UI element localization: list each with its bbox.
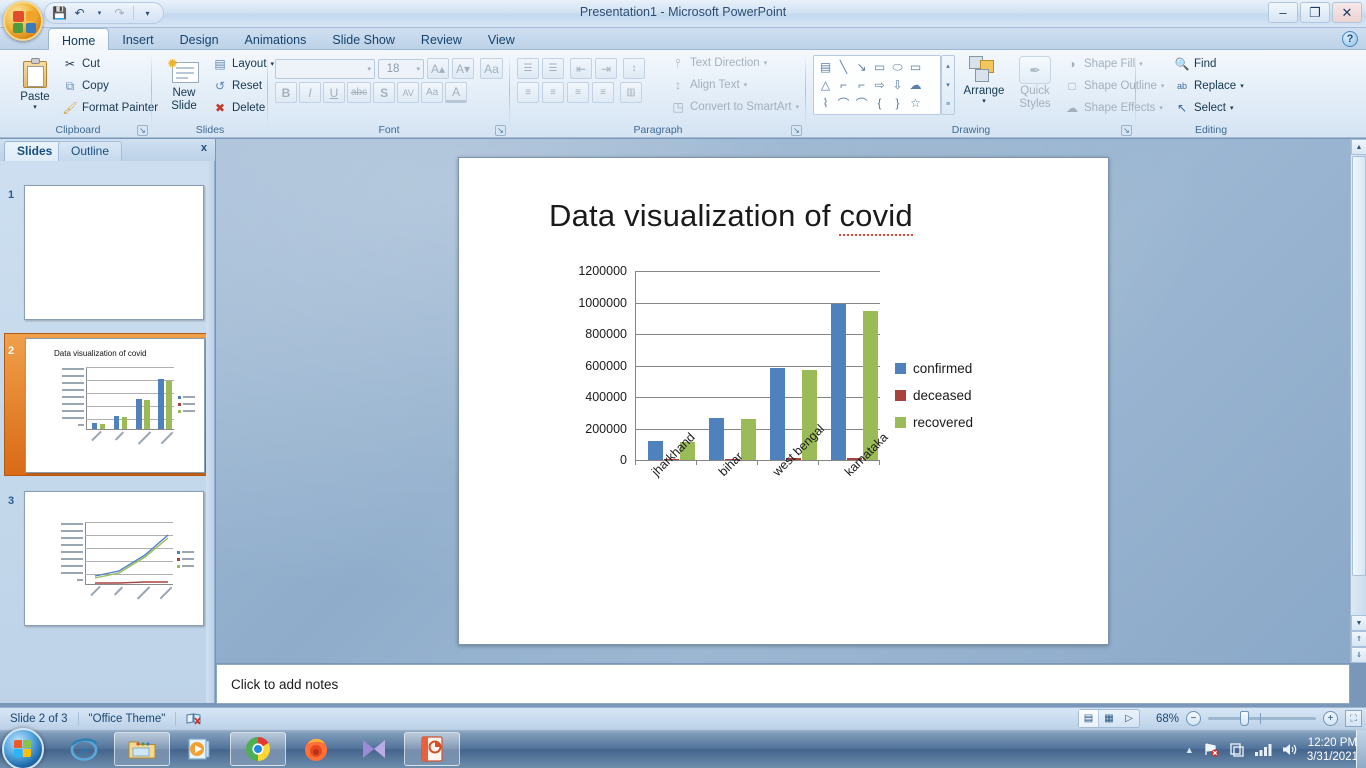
legend-item-deceased[interactable]: deceased: [895, 388, 973, 403]
minimize-button[interactable]: –: [1268, 2, 1298, 23]
svg-text:e: e: [80, 741, 88, 760]
paste-label: Paste: [12, 91, 58, 103]
ribbon-group-paragraph: ☰ ☰ ⇤ ⇥ ↕ ≡ ≡ ≡ ≡ ▥ ⫯ Text Direction ▾: [510, 50, 806, 138]
slide-indicator[interactable]: Slide 2 of 3: [0, 710, 78, 728]
curve-shape-icon[interactable]: ⌒: [835, 95, 852, 112]
shrink-font-button[interactable]: A▾: [452, 58, 474, 79]
tab-insert[interactable]: Insert: [109, 28, 166, 50]
internet-explorer-icon: e: [69, 735, 99, 763]
paragraph-row-2: ≡ ≡ ≡ ≡ ▥: [517, 82, 642, 103]
gallery-scroll-down-icon[interactable]: ▾: [946, 81, 950, 89]
legend-label-confirmed: confirmed: [913, 361, 972, 376]
font-row-1: ▾ 18 ▾ A▴ A▾ Aa: [275, 58, 503, 79]
slide-pane-tabs: Slides Outline x: [0, 139, 215, 161]
align-center-button[interactable]: ≡: [542, 82, 564, 103]
convert-to-smartart-button[interactable]: ◳ Convert to SmartArt ▾: [670, 99, 799, 115]
drawing-dialog-launcher[interactable]: ↘: [1121, 125, 1132, 136]
slide-thumbnail-2[interactable]: Data visualization of covid: [4, 337, 207, 485]
slide-preview-3: [24, 491, 204, 626]
taskbar: e: [0, 729, 1366, 768]
bar-recovered-bihar[interactable]: [741, 419, 756, 460]
zoom-level[interactable]: 68%: [1147, 713, 1179, 725]
scroll-up-button[interactable]: ▲: [1351, 139, 1366, 155]
ribbon-group-clipboard: Paste ▾ ✂ Cut ⧉ Copy 🖌 Format Painter Cl…: [4, 50, 152, 138]
legend-item-recovered[interactable]: recovered: [895, 415, 973, 430]
scroll-down-button[interactable]: ▼: [1351, 615, 1366, 631]
tab-slides[interactable]: Slides: [4, 141, 65, 161]
y-tick-label: 600000: [585, 359, 635, 373]
tab-design[interactable]: Design: [167, 28, 232, 50]
columns-button[interactable]: ▥: [620, 82, 642, 103]
format-painter-label: Format Painter: [82, 102, 158, 114]
legend-swatch-recovered: [895, 417, 906, 428]
bold-button[interactable]: B: [275, 82, 297, 103]
taskbar-media-player[interactable]: [172, 732, 228, 766]
legend-swatch-deceased: [895, 390, 906, 401]
paragraph-dialog-launcher[interactable]: ↘: [791, 125, 802, 136]
legend-label-deceased: deceased: [913, 388, 972, 403]
paragraph-commands: ⫯ Text Direction ▾ ↕ Align Text ▾ ◳ Conv…: [670, 55, 799, 115]
zoom-slider-handle[interactable]: [1240, 711, 1249, 726]
notes-placeholder: Click to add notes: [231, 677, 338, 692]
align-right-button[interactable]: ≡: [567, 82, 589, 103]
increase-indent-button[interactable]: ⇥: [595, 58, 617, 79]
thumb-title-2: Data visualization of covid: [54, 349, 147, 358]
slide-editing-area: Data visualization of covid 1200000 1000…: [216, 139, 1350, 663]
zoom-slider-midpoint: [1260, 713, 1261, 724]
text-direction-icon: ⫯: [670, 55, 686, 71]
arrow-shape-icon[interactable]: ↘: [853, 59, 870, 76]
clock-date: 3/31/2021: [1307, 750, 1358, 764]
tab-home[interactable]: Home: [48, 28, 109, 50]
shape-effects-button[interactable]: ☁ Shape Effects ▾: [1064, 100, 1164, 116]
window-title: Presentation1 - Microsoft PowerPoint: [0, 5, 1366, 19]
find-icon: 🔍: [1174, 56, 1190, 72]
editing-commands: 🔍 Find ab Replace ▾ ↖ Select ▾: [1174, 56, 1244, 116]
title-bar: 💾 ↶ ▾ ↷ ▾ Presentation1 - Microsoft Powe…: [0, 0, 1366, 28]
thumb-chart-2: [54, 367, 194, 445]
format-painter-button[interactable]: 🖌 Format Painter: [62, 100, 158, 116]
text-direction-button[interactable]: ⫯ Text Direction ▾: [670, 55, 799, 71]
text-shadow-button[interactable]: S: [373, 82, 395, 103]
shape-outline-icon: □: [1064, 78, 1080, 94]
powerpoint-window: 💾 ↶ ▾ ↷ ▾ Presentation1 - Microsoft Powe…: [0, 0, 1366, 768]
new-slide-icon: ✹: [167, 56, 201, 86]
shape-fill-label: Shape Fill: [1084, 58, 1135, 70]
strikethrough-button[interactable]: abc: [347, 82, 371, 103]
shape-outline-label: Shape Outline: [1084, 80, 1157, 92]
down-arrow-shape-icon[interactable]: ⇩: [889, 77, 906, 94]
shapes-row-1: ▤ ╲ ↘ ▭ ⬭ ▭: [817, 58, 937, 76]
group-separator: [1135, 54, 1136, 126]
notes-pane[interactable]: Click to add notes: [216, 664, 1350, 704]
delete-label: Delete: [232, 102, 265, 114]
tab-view[interactable]: View: [475, 28, 528, 50]
copy-button[interactable]: ⧉ Copy: [62, 78, 158, 94]
rounded-rectangle-shape-icon[interactable]: ▭: [907, 59, 924, 76]
clear-formatting-button[interactable]: Aa: [480, 58, 503, 79]
clipboard-commands: ✂ Cut ⧉ Copy 🖌 Format Painter: [62, 56, 158, 116]
tab-slide-show[interactable]: Slide Show: [319, 28, 408, 50]
y-tick-label: 400000: [585, 390, 635, 404]
align-text-label: Align Text: [690, 79, 740, 91]
font-group-title: Font: [268, 124, 510, 136]
media-player-icon: [186, 736, 214, 762]
network-icon[interactable]: [1203, 742, 1220, 757]
chevron-down-icon[interactable]: ▾: [1139, 60, 1143, 68]
cut-button[interactable]: ✂ Cut: [62, 56, 158, 72]
slide-sorter-button[interactable]: ▦: [1099, 710, 1119, 727]
y-tick-label: 1200000: [578, 264, 635, 278]
new-slide-button[interactable]: ✹ New Slide: [158, 56, 210, 112]
close-button[interactable]: ✕: [1332, 2, 1362, 23]
new-slide-label-1: New: [158, 87, 210, 99]
cursor-icon: ↖: [1174, 100, 1190, 116]
text-direction-label: Text Direction: [690, 57, 760, 69]
character-spacing-button[interactable]: AV: [397, 82, 419, 103]
font-size-combo[interactable]: 18 ▾: [378, 59, 424, 79]
slide-pane-scrollbar[interactable]: [206, 161, 214, 703]
shape-outline-button[interactable]: □ Shape Outline ▾: [1064, 78, 1164, 94]
font-color-button[interactable]: A: [445, 82, 467, 103]
ribbon-tabs: Home Insert Design Animations Slide Show…: [48, 28, 528, 50]
gallery-more-icon[interactable]: ≡: [946, 101, 950, 108]
replace-label: Replace: [1194, 80, 1236, 92]
align-left-button[interactable]: ≡: [517, 82, 539, 103]
next-slide-button[interactable]: ⇓: [1351, 647, 1366, 663]
chevron-down-icon[interactable]: ▾: [1230, 104, 1234, 112]
scroll-buttons-group: ▼ ⇑ ⇓: [1351, 615, 1366, 663]
arc-shape-icon[interactable]: ⌒: [853, 95, 870, 112]
tab-outline[interactable]: Outline: [58, 141, 122, 161]
bullets-button[interactable]: ☰: [517, 58, 539, 79]
convert-smartart-label: Convert to SmartArt: [690, 101, 792, 113]
new-slide-label-2: Slide: [158, 100, 210, 112]
folder-icon: [127, 736, 157, 762]
delete-slide-button[interactable]: ✖ Delete: [212, 100, 274, 116]
chevron-down-icon[interactable]: ▾: [1240, 82, 1244, 90]
chevron-down-icon[interactable]: ▾: [362, 65, 371, 73]
y-tick-label: 0: [620, 453, 635, 467]
chevron-down-icon[interactable]: ▾: [764, 59, 768, 67]
replace-icon: ab: [1174, 78, 1190, 94]
clipboard-dialog-launcher[interactable]: ↘: [137, 125, 148, 136]
line-spacing-button[interactable]: ↕: [623, 58, 645, 79]
misspelled-word: covid: [839, 198, 912, 236]
italic-button[interactable]: I: [299, 82, 321, 103]
editing-group-title: Editing: [1166, 124, 1256, 136]
slide-show-button[interactable]: ▷: [1119, 710, 1139, 727]
taskbar-movie-maker[interactable]: [346, 732, 402, 766]
grow-font-button[interactable]: A▴: [427, 58, 449, 79]
numbering-button[interactable]: ☰: [542, 58, 564, 79]
line-shape-icon[interactable]: ╲: [835, 59, 852, 76]
paintbrush-icon: 🖌: [62, 100, 78, 116]
select-label: Select: [1194, 102, 1226, 114]
paragraph-row-1: ☰ ☰ ⇤ ⇥ ↕: [517, 58, 645, 79]
select-button[interactable]: ↖ Select ▾: [1174, 100, 1244, 116]
legend-swatch-confirmed: [895, 363, 906, 374]
slide-thumbnail-3[interactable]: 3: [4, 491, 207, 639]
slide-preview-2: Data visualization of covid: [25, 338, 205, 473]
bar-chart[interactable]: 1200000 1000000 800000 600000 400000: [565, 263, 1015, 593]
proofing-icon: [186, 712, 202, 725]
paste-dropdown-icon[interactable]: ▾: [12, 103, 58, 111]
clock[interactable]: 12:20 PM 3/31/2021: [1307, 736, 1358, 764]
decrease-indent-button[interactable]: ⇤: [570, 58, 592, 79]
slide-thumbnails: 1 Data visualization of covid: [0, 161, 207, 703]
scissors-icon: ✂: [62, 56, 78, 72]
bar-confirmed-karnataka[interactable]: [831, 304, 846, 460]
replace-button[interactable]: ab Replace ▾: [1174, 78, 1244, 94]
chevron-down-icon[interactable]: ▾: [1161, 82, 1165, 90]
copy-label: Copy: [82, 80, 109, 92]
current-slide[interactable]: Data visualization of covid 1200000 1000…: [458, 157, 1109, 645]
reset-icon: ↺: [212, 78, 228, 94]
powerpoint-icon: [419, 735, 445, 763]
slides-commands: ▤ Layout ▾ ↺ Reset ✖ Delete: [212, 56, 274, 116]
legend-label-recovered: recovered: [913, 415, 973, 430]
slide-navigation-pane: Slides Outline x 1 Data visualization of…: [0, 139, 215, 703]
close-pane-icon[interactable]: x: [201, 142, 207, 154]
taskbar-firefox[interactable]: [288, 732, 344, 766]
cloud-shape-icon[interactable]: ☁: [907, 77, 924, 94]
chart-legend: confirmed deceased recovered: [895, 361, 973, 442]
align-text-button[interactable]: ↕ Align Text ▾: [670, 77, 799, 93]
shape-effects-label: Shape Effects: [1084, 102, 1155, 114]
shapes-row-3: ⌇ ⌒ ⌒ { } ☆: [817, 94, 937, 112]
shapes-gallery-scrollbar[interactable]: ▴ ▾ ≡: [941, 55, 955, 115]
ribbon-tab-strip: Home Insert Design Animations Slide Show…: [0, 28, 1366, 50]
firefox-icon: [302, 735, 330, 763]
zoom-out-button[interactable]: −: [1186, 711, 1201, 726]
elbow-arrow-connector-icon[interactable]: ⌐: [853, 77, 870, 94]
chevron-down-icon[interactable]: ▾: [1159, 104, 1163, 112]
ribbon-group-font: ▾ 18 ▾ A▴ A▾ Aa B I U abc S AV Aa A Fo: [268, 50, 510, 138]
text-box-shape-icon[interactable]: ▤: [817, 59, 834, 76]
elbow-connector-icon[interactable]: ⌐: [835, 77, 852, 94]
clock-time: 12:20 PM: [1307, 736, 1358, 750]
taskbar-powerpoint[interactable]: [404, 732, 460, 766]
triangle-shape-icon[interactable]: △: [817, 77, 834, 94]
theme-indicator[interactable]: "Office Theme": [79, 710, 176, 728]
layout-button[interactable]: ▤ Layout ▾: [212, 56, 274, 72]
window-controls: – ❐ ✕: [1268, 2, 1362, 23]
rectangle-shape-icon[interactable]: ▭: [871, 59, 888, 76]
taskbar-google-chrome[interactable]: [230, 732, 286, 766]
smartart-icon: ◳: [670, 99, 686, 115]
chart-plot-area: 1200000 1000000 800000 600000 400000: [635, 271, 880, 461]
font-size-value: 18: [384, 63, 402, 75]
arrange-icon: [969, 56, 999, 84]
right-arrow-shape-icon[interactable]: ⇨: [871, 77, 888, 94]
paste-button[interactable]: Paste ▾: [12, 58, 58, 111]
view-buttons: ▤ ▦ ▷: [1078, 709, 1140, 728]
movie-maker-icon: [359, 737, 389, 761]
font-dialog-launcher[interactable]: ↘: [495, 125, 506, 136]
drawing-commands: ◑ Shape Fill ▾ □ Shape Outline ▾ ☁ Shape…: [1064, 56, 1164, 116]
y-tick-label: 1000000: [578, 296, 635, 310]
quick-styles-label-2: Styles: [1010, 98, 1060, 110]
volume-icon[interactable]: [1281, 742, 1298, 757]
paste-icon: [19, 58, 51, 90]
slides-group-title: Slides: [152, 124, 268, 136]
y-tick-label: 800000: [585, 327, 635, 341]
ribbon-group-editing: 🔍 Find ab Replace ▾ ↖ Select ▾ Editing: [1166, 50, 1256, 138]
ribbon: Paste ▾ ✂ Cut ⧉ Copy 🖌 Format Painter Cl…: [0, 50, 1366, 138]
find-button[interactable]: 🔍 Find: [1174, 56, 1244, 72]
justify-button[interactable]: ≡: [592, 82, 614, 103]
gridline: 1200000: [635, 271, 880, 272]
previous-slide-button[interactable]: ⇑: [1351, 631, 1366, 647]
shapes-gallery[interactable]: ▤ ╲ ↘ ▭ ⬭ ▭ △ ⌐ ⌐ ⇨ ⇩ ☁ ⌇ ⌒: [813, 55, 941, 115]
status-right-controls: ▤ ▦ ▷ 68% − + ⛶: [1078, 709, 1362, 728]
status-bar: Slide 2 of 3 "Office Theme" ▤ ▦ ▷ 68% − …: [0, 707, 1366, 729]
slide-number-1: 1: [8, 189, 14, 201]
slide-2-selection-highlight: Data visualization of covid: [4, 333, 207, 476]
signal-strength-icon[interactable]: [1254, 743, 1272, 757]
arrange-label: Arrange: [960, 85, 1008, 97]
slide-thumbnail-1[interactable]: 1: [4, 185, 207, 325]
change-case-button[interactable]: Aa: [421, 82, 443, 103]
help-icon[interactable]: ?: [1342, 31, 1358, 47]
gallery-scroll-up-icon[interactable]: ▴: [946, 62, 950, 70]
taskbar-internet-explorer[interactable]: e: [56, 732, 112, 766]
windows-logo-icon: [14, 740, 32, 758]
fit-slide-to-window-button[interactable]: ⛶: [1345, 710, 1362, 727]
slide-number-3: 3: [8, 495, 14, 507]
chrome-icon: [244, 735, 272, 763]
find-label: Find: [1194, 58, 1216, 70]
bar-confirmed-bihar[interactable]: [709, 418, 724, 460]
reset-button[interactable]: ↺ Reset: [212, 78, 274, 94]
layout-icon: ▤: [212, 56, 228, 72]
layout-label: Layout: [232, 58, 267, 70]
start-button[interactable]: [2, 728, 44, 768]
bar-confirmed-west-bengal[interactable]: [770, 368, 785, 460]
spellcheck-icon[interactable]: [176, 710, 212, 728]
maximize-button[interactable]: ❐: [1300, 2, 1330, 23]
arrange-dropdown-icon[interactable]: ▾: [960, 97, 1008, 105]
shapes-row-2: △ ⌐ ⌐ ⇨ ⇩ ☁: [817, 76, 937, 94]
right-brace-shape-icon[interactable]: }: [889, 95, 906, 112]
ribbon-group-drawing: ▤ ╲ ↘ ▭ ⬭ ▭ △ ⌐ ⌐ ⇨ ⇩ ☁ ⌇ ⌒: [806, 50, 1136, 138]
arrange-button[interactable]: Arrange ▾: [960, 56, 1008, 105]
underline-button[interactable]: U: [323, 82, 345, 103]
quick-styles-icon: ✒: [1019, 56, 1051, 84]
office-logo-icon: [13, 11, 37, 34]
taskbar-items: e: [56, 732, 460, 766]
y-tick-label: 200000: [585, 422, 635, 436]
clipboard-group-title: Clipboard: [4, 124, 152, 136]
shape-effects-icon: ☁: [1064, 100, 1080, 116]
align-text-icon: ↕: [670, 77, 686, 93]
ribbon-group-slides: ✹ New Slide ▤ Layout ▾ ↺ Reset ✖ Delete: [152, 50, 268, 138]
chevron-down-icon[interactable]: ▾: [796, 103, 800, 111]
normal-view-button[interactable]: ▤: [1079, 710, 1099, 727]
scrollbar-thumb[interactable]: [1352, 156, 1366, 576]
scribble-shape-icon[interactable]: ⌇: [817, 95, 834, 112]
cut-label: Cut: [82, 58, 100, 70]
legend-item-confirmed[interactable]: confirmed: [895, 361, 973, 376]
font-name-combo[interactable]: ▾: [275, 59, 375, 79]
drawing-group-title: Drawing: [806, 124, 1136, 136]
paragraph-group-title: Paragraph: [510, 124, 806, 136]
system-tray: ▲ 12:20 PM 3/: [1185, 730, 1358, 768]
slide-number-2: 2: [8, 345, 14, 357]
star-shape-icon[interactable]: ☆: [907, 95, 924, 112]
left-brace-shape-icon[interactable]: {: [871, 95, 888, 112]
quick-styles-button[interactable]: ✒ Quick Styles: [1010, 56, 1060, 110]
show-desktop-button[interactable]: [1356, 730, 1366, 768]
thumb-chart-3: [53, 522, 193, 600]
reset-label: Reset: [232, 80, 262, 92]
show-hidden-icons-button[interactable]: ▲: [1185, 745, 1194, 755]
quick-styles-label-1: Quick: [1010, 85, 1060, 97]
zoom-in-button[interactable]: +: [1323, 711, 1338, 726]
shape-fill-icon: ◑: [1064, 56, 1080, 72]
chevron-down-icon[interactable]: ▾: [411, 65, 420, 73]
tab-review[interactable]: Review: [408, 28, 475, 50]
tab-animations[interactable]: Animations: [232, 28, 320, 50]
copy-icon: ⧉: [62, 78, 78, 94]
office-button[interactable]: [3, 1, 43, 41]
oval-shape-icon[interactable]: ⬭: [889, 59, 906, 76]
taskbar-windows-explorer[interactable]: [114, 732, 170, 766]
shape-fill-button[interactable]: ◑ Shape Fill ▾: [1064, 56, 1164, 72]
delete-icon: ✖: [212, 100, 228, 116]
slide-title[interactable]: Data visualization of covid: [549, 198, 1029, 234]
slide-area-scrollbar[interactable]: ▲ ▼ ⇑ ⇓: [1350, 139, 1366, 663]
font-row-2: B I U abc S AV Aa A: [275, 82, 467, 103]
action-center-icon[interactable]: [1229, 742, 1245, 757]
zoom-slider[interactable]: [1208, 717, 1316, 720]
slide-title-text: Data visualization of: [549, 198, 839, 233]
slide-preview-1: [24, 185, 204, 320]
chevron-down-icon[interactable]: ▾: [744, 81, 748, 89]
